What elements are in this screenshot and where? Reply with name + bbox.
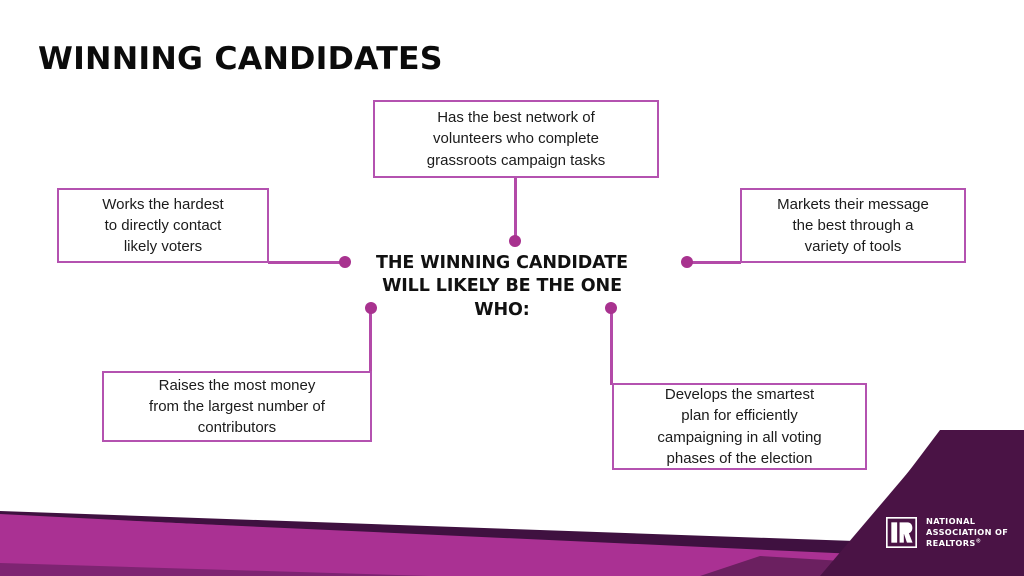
magenta-swoosh-main xyxy=(0,515,1024,576)
nar-wordmark-line-3: REALTORS® xyxy=(926,538,1008,549)
spoke-line: Raises the most money xyxy=(149,375,325,396)
nar-wordmark: NATIONAL ASSOCIATION OF REALTORS® xyxy=(926,516,1008,548)
spoke-line: Works the hardest xyxy=(102,194,223,215)
dark-sliver-swoosh xyxy=(0,511,1024,576)
spoke-box-right[interactable]: Markets their message the best through a… xyxy=(740,188,966,263)
spoke-line: likely voters xyxy=(102,236,223,257)
spoke-line: Has the best network of xyxy=(427,107,605,128)
spoke-box-bottom-right[interactable]: Develops the smartest plan for efficient… xyxy=(612,383,867,470)
spoke-line: from the largest number of xyxy=(149,396,325,417)
mid-purple-wedge xyxy=(700,556,1024,576)
nar-realtors-text: REALTORS xyxy=(926,538,976,548)
spoke-box-top[interactable]: Has the best network of volunteers who c… xyxy=(373,100,659,178)
spoke-text-left: Works the hardest to directly contact li… xyxy=(93,194,232,258)
hub-label-line-1: THE WINNING CANDIDATE xyxy=(352,252,652,275)
magenta-swoosh xyxy=(0,514,1024,576)
spoke-line: volunteers who complete xyxy=(427,128,605,149)
nar-wordmark-line-2: ASSOCIATION OF xyxy=(926,527,1008,538)
hub-label-line-2: WILL LIKELY BE THE ONE WHO: xyxy=(352,275,652,322)
nar-r-mark-icon xyxy=(886,517,917,548)
connector-dot-top xyxy=(509,235,521,247)
nar-wordmark-line-1: NATIONAL xyxy=(926,516,1008,527)
connector-line-top xyxy=(514,178,517,242)
spoke-line: variety of tools xyxy=(777,236,929,257)
slide-canvas: WINNING CANDIDATES THE WINNING CANDIDATE… xyxy=(0,0,1024,576)
connector-dot-right xyxy=(681,256,693,268)
spoke-text-top: Has the best network of volunteers who c… xyxy=(418,107,614,171)
spoke-text-bottom-right: Develops the smartest plan for efficient… xyxy=(648,384,830,469)
hub-label: THE WINNING CANDIDATE WILL LIKELY BE THE… xyxy=(352,252,652,322)
connector-line-left xyxy=(268,261,348,264)
spoke-line: to directly contact xyxy=(102,215,223,236)
spoke-line: contributors xyxy=(149,417,325,438)
registered-trademark-icon: ® xyxy=(976,538,982,544)
spoke-line: the best through a xyxy=(777,215,929,236)
spoke-box-left[interactable]: Works the hardest to directly contact li… xyxy=(57,188,269,263)
spoke-line: grassroots campaign tasks xyxy=(427,150,605,171)
spoke-box-bottom-left[interactable]: Raises the most money from the largest n… xyxy=(102,371,372,442)
page-title: WINNING CANDIDATES xyxy=(38,41,443,77)
nar-logo: NATIONAL ASSOCIATION OF REALTORS® xyxy=(886,516,1008,548)
spoke-text-bottom-left: Raises the most money from the largest n… xyxy=(140,375,334,439)
lower-magenta-band xyxy=(0,563,430,576)
spoke-line: Markets their message xyxy=(777,194,929,215)
spoke-line: plan for efficiently xyxy=(657,405,821,426)
connector-line-right xyxy=(689,261,741,264)
spoke-line: campaigning in all voting xyxy=(657,427,821,448)
spoke-line: Develops the smartest xyxy=(657,384,821,405)
spoke-line: phases of the election xyxy=(657,448,821,469)
spoke-text-right: Markets their message the best through a… xyxy=(768,194,938,258)
connector-dot-left xyxy=(339,256,351,268)
